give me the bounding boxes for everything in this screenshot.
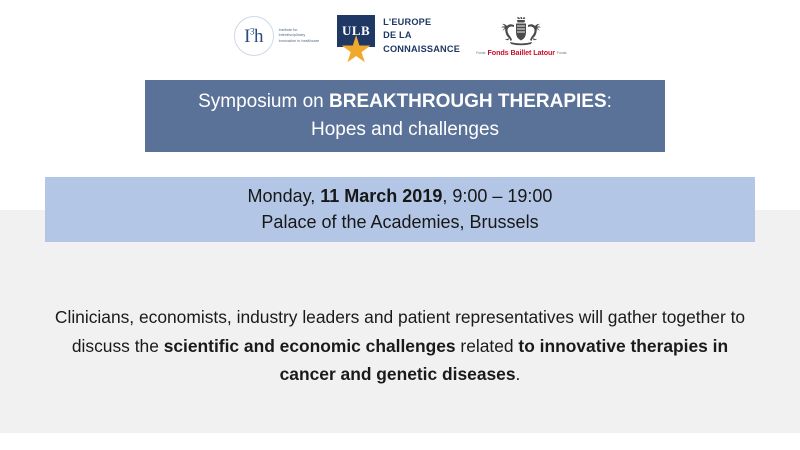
i3h-circle-icon: I3h — [234, 16, 274, 56]
description-strong-1: scientific and economic challenges — [164, 336, 456, 356]
ulb-logo: ULB L'EUROPE DE LA CONNAISSANCE — [335, 13, 460, 59]
event-description: Clinicians, economists, industry leaders… — [45, 303, 755, 388]
fbl-nameplate: Fonds Fonds Baillet Latour Fonds — [476, 48, 566, 57]
symposium-subtitle: Hopes and challenges — [311, 120, 499, 141]
title-banner: Symposium on BREAKTHROUGH THERAPIES: Hop… — [145, 80, 665, 152]
symposium-title: Symposium on BREAKTHROUGH THERAPIES: — [198, 92, 612, 113]
ulb-slogan-line-2: DE LA — [383, 29, 460, 42]
i3h-wordmark: I3h — [244, 27, 263, 46]
event-venue: Palace of the Academies, Brussels — [261, 213, 538, 233]
event-datetime: Monday, 11 March 2019, 9:00 – 19:00 — [248, 187, 553, 207]
heraldic-crest-icon — [492, 17, 550, 47]
event-date: 11 March 2019 — [320, 186, 442, 206]
fonds-baillet-latour-logo: Fonds Fonds Baillet Latour Fonds — [476, 15, 566, 57]
event-day: Monday, — [248, 186, 321, 206]
symposium-title-suffix: : — [607, 91, 612, 112]
fbl-tiny-right: Fonds — [557, 52, 566, 57]
fbl-tiny-left: Fonds — [476, 52, 485, 57]
i3h-logo: I3h Institute for Interdisciplinary Inno… — [234, 16, 320, 56]
event-details-banner: Monday, 11 March 2019, 9:00 – 19:00 Pala… — [45, 177, 755, 242]
i3h-tagline-line-3: Innovation in healthcare — [279, 39, 320, 45]
fbl-name-label: Fonds Baillet Latour — [488, 48, 555, 57]
ulb-slogan: L'EUROPE DE LA CONNAISSANCE — [383, 16, 460, 56]
symposium-title-prefix: Symposium on — [198, 91, 329, 112]
ulb-slogan-line-1: L'EUROPE — [383, 16, 460, 29]
i3h-tagline: Institute for Interdisciplinary Innovati… — [279, 28, 320, 45]
symposium-title-strong: BREAKTHROUGH THERAPIES — [329, 91, 607, 112]
event-time: , 9:00 – 19:00 — [442, 186, 552, 206]
ulb-badge-icon: ULB — [335, 13, 377, 59]
description-segment-3: . — [516, 364, 521, 384]
description-segment-2: related — [456, 336, 519, 356]
ulb-slogan-line-3: CONNAISSANCE — [383, 43, 460, 56]
sponsor-logo-strip: I3h Institute for Interdisciplinary Inno… — [0, 0, 800, 72]
